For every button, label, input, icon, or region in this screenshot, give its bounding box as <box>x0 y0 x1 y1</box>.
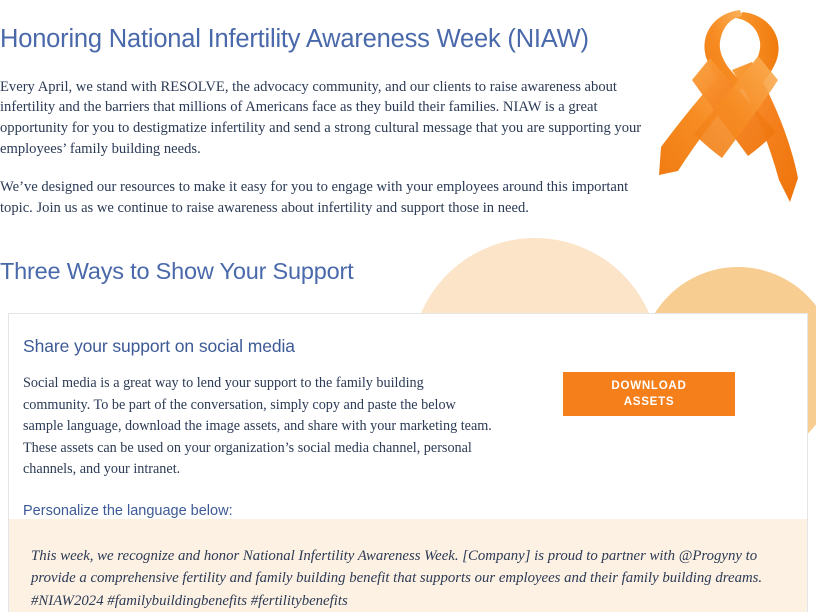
sample-language-quote-block: This week, we recognize and honor Nation… <box>9 519 807 612</box>
download-assets-button[interactable]: DOWNLOAD ASSETS <box>563 372 735 416</box>
hero-paragraph-1: Every April, we stand with RESOLVE, the … <box>0 77 660 160</box>
card-paragraph: Social media is a great way to lend your… <box>23 373 493 481</box>
page-root: Honoring National Infertility Awareness … <box>0 0 816 612</box>
support-card: Share your support on social media Socia… <box>8 313 808 612</box>
card-body: Share your support on social media Socia… <box>9 314 807 506</box>
orange-awareness-ribbon-icon <box>648 0 816 215</box>
page-title: Honoring National Infertility Awareness … <box>0 24 660 55</box>
hero-paragraph-2: We’ve designed our resources to make it … <box>0 177 660 218</box>
sample-language-text: This week, we recognize and honor Nation… <box>31 545 785 612</box>
card-subheading: Personalize the language below: <box>23 503 793 519</box>
section-heading: Three Ways to Show Your Support <box>0 258 353 285</box>
card-heading: Share your support on social media <box>23 336 793 357</box>
hero-section: Honoring National Infertility Awareness … <box>0 24 660 219</box>
